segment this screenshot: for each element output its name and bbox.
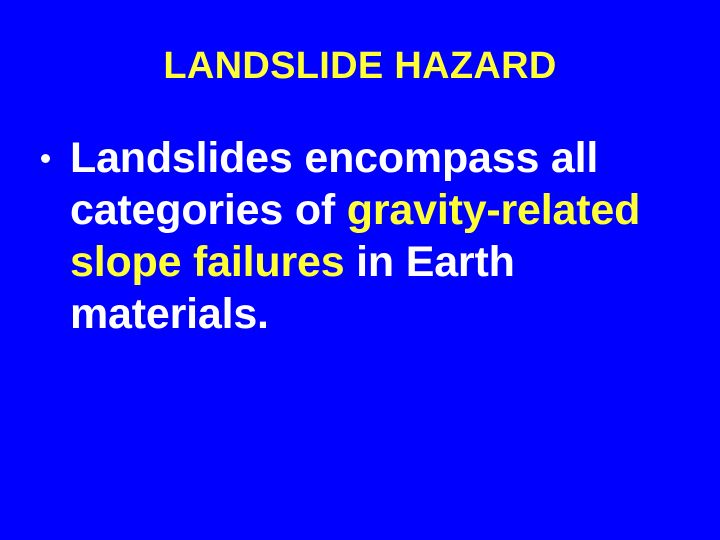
slide-title: LANDSLIDE HAZARD xyxy=(0,44,720,88)
presentation-slide: LANDSLIDE HAZARD Landslides encompass al… xyxy=(0,0,720,540)
bullet-text: Landslides encompass all categories of g… xyxy=(70,132,696,340)
bullet-list-item: Landslides encompass all categories of g… xyxy=(36,132,696,340)
slide-body: Landslides encompass all categories of g… xyxy=(36,132,696,340)
bullet-dot-icon xyxy=(41,154,50,163)
